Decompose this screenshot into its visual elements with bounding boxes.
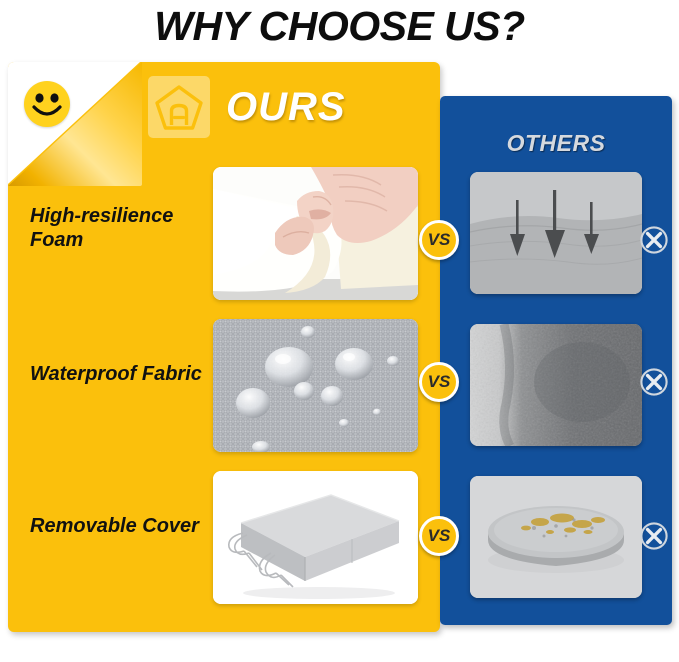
vs-badge-row-2: VS [419,362,459,402]
page-title: WHY CHOOSE US? [0,0,679,52]
vs-badge-row-3: VS [419,516,459,556]
circle-x-icon-row-3 [639,521,669,551]
ours-image-fabric [213,319,418,452]
feature-label-foam: High-resilience Foam [30,204,208,253]
others-image-fabric [470,324,642,446]
infographic-canvas: WHY CHOOSE US? OURS Hig [0,0,679,662]
others-image-cover [470,476,642,598]
others-heading-label: OTHERS [440,130,672,157]
ours-image-foam [213,167,418,300]
ours-heading-label: OURS [226,85,346,130]
vs-badge-row-1: VS [419,220,459,260]
others-image-foam [470,172,642,294]
ours-panel: OURS High-resilience Foam Waterproof Fab… [8,62,440,632]
feature-label-fabric: Waterproof Fabric [30,362,208,386]
others-panel: OTHERS [440,96,672,625]
house-icon [148,76,210,138]
ours-image-cover [213,471,418,604]
circle-x-icon-row-1 [639,225,669,255]
circle-x-icon-row-2 [639,367,669,397]
smiley-face-icon [24,81,70,127]
feature-label-cover: Removable Cover [30,514,208,538]
ours-heading-group: OURS [148,76,346,138]
